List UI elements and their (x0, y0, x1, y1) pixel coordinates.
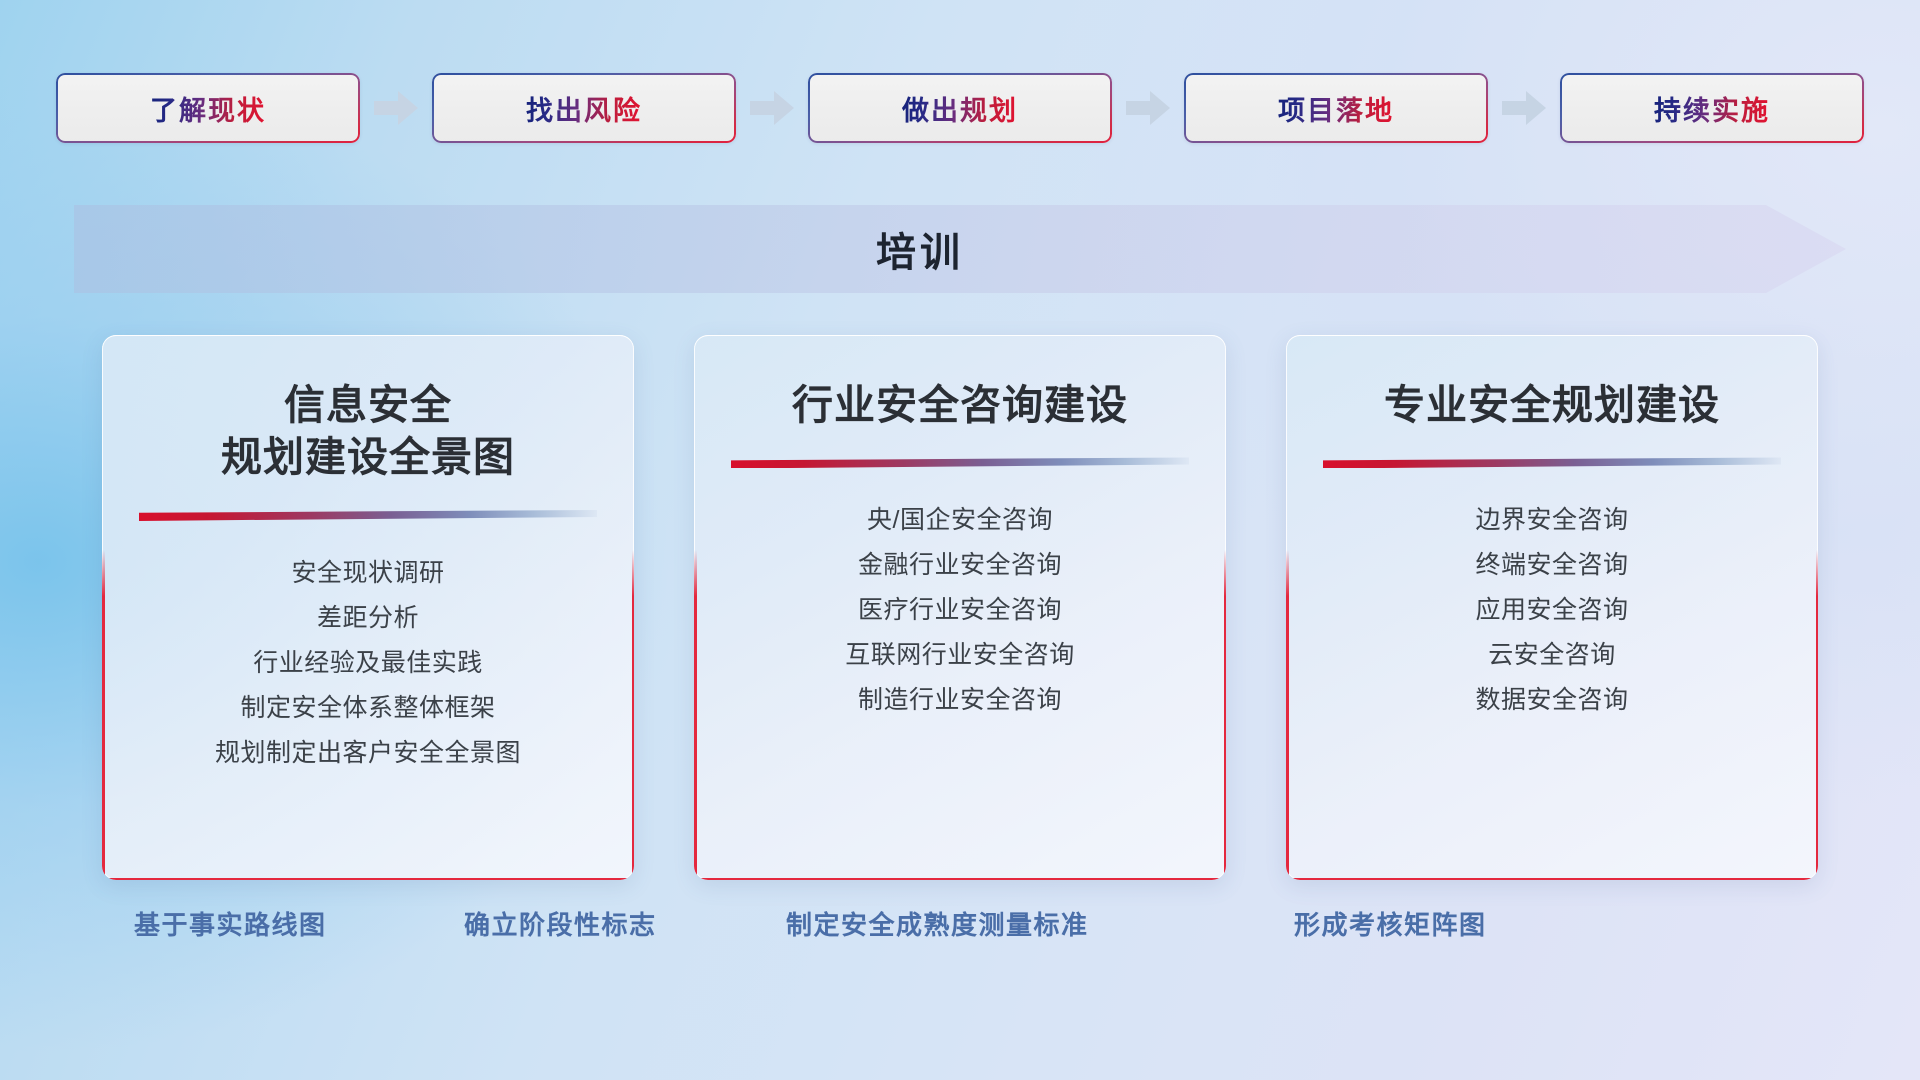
card-accent-right (1224, 550, 1227, 880)
list-item: 金融行业安全咨询 (694, 543, 1226, 588)
step-arrow-icon-2 (1112, 73, 1184, 143)
card-accent-left (1286, 550, 1289, 880)
process-step-row: 了解现状 找出风险 做出规划 项目落地 持续实施 (0, 72, 1920, 144)
list-item: 央/国企安全咨询 (694, 498, 1226, 543)
card-industry-security-consulting[interactable]: 行业安全咨询建设 央/国企安全咨询 金融行业安全咨询 医疗行业安全咨询 互联网行… (694, 335, 1226, 880)
bottom-label-roadmap: 基于事实路线图 (134, 905, 327, 942)
bottom-label-assessment-matrix: 形成考核矩阵图 (1294, 905, 1487, 942)
step-label: 做出规划 (902, 89, 1018, 128)
card-accent-bottom (102, 878, 634, 881)
card-list: 央/国企安全咨询 金融行业安全咨询 医疗行业安全咨询 互联网行业安全咨询 制造行… (694, 498, 1226, 723)
step-label: 了解现状 (150, 89, 266, 128)
step-wrap-4: 持续实施 (1560, 73, 1864, 143)
card-title: 行业安全咨询建设 (694, 379, 1226, 431)
step-box-find-risk[interactable]: 找出风险 (432, 73, 736, 143)
step-arrow-icon-1 (736, 73, 808, 143)
step-box-make-plan[interactable]: 做出规划 (808, 73, 1112, 143)
list-item: 差距分析 (102, 596, 634, 641)
step-wrap-3: 项目落地 (1184, 73, 1488, 143)
step-label: 持续实施 (1654, 89, 1770, 128)
card-divider (731, 457, 1189, 468)
list-item: 规划制定出客户安全全景图 (102, 731, 634, 776)
training-banner: 培训 (74, 205, 1846, 293)
card-list: 安全现状调研 差距分析 行业经验及最佳实践 制定安全体系整体框架 规划制定出客户… (102, 551, 634, 776)
card-accent-bottom (694, 878, 1226, 881)
step-arrow-icon-3 (1488, 73, 1560, 143)
step-box-project-landing[interactable]: 项目落地 (1184, 73, 1488, 143)
list-item: 行业经验及最佳实践 (102, 641, 634, 686)
bottom-label-maturity-standard: 制定安全成熟度测量标准 (786, 905, 1089, 942)
card-title: 信息安全 规划建设全景图 (102, 379, 634, 484)
list-item: 边界安全咨询 (1286, 498, 1818, 543)
card-accent-right (632, 550, 635, 880)
bottom-label-row: 基于事实路线图 确立阶段性标志 制定安全成熟度测量标准 形成考核矩阵图 (0, 905, 1920, 965)
step-arrow-icon-0 (360, 73, 432, 143)
step-wrap-2: 做出规划 (808, 73, 1112, 143)
step-box-understand-status[interactable]: 了解现状 (56, 73, 360, 143)
banner-title: 培训 (74, 205, 1846, 293)
list-item: 制定安全体系整体框架 (102, 686, 634, 731)
card-info-security-panorama[interactable]: 信息安全 规划建设全景图 安全现状调研 差距分析 行业经验及最佳实践 制定安全体… (102, 335, 634, 880)
card-accent-left (102, 550, 105, 880)
card-divider (1323, 457, 1781, 468)
card-list: 边界安全咨询 终端安全咨询 应用安全咨询 云安全咨询 数据安全咨询 (1286, 498, 1818, 723)
card-divider (139, 510, 597, 521)
list-item: 制造行业安全咨询 (694, 678, 1226, 723)
list-item: 互联网行业安全咨询 (694, 633, 1226, 678)
card-accent-right (1816, 550, 1819, 880)
step-wrap-1: 找出风险 (432, 73, 736, 143)
list-item: 安全现状调研 (102, 551, 634, 596)
list-item: 医疗行业安全咨询 (694, 588, 1226, 633)
card-accent-left (694, 550, 697, 880)
card-title: 专业安全规划建设 (1286, 379, 1818, 431)
step-label: 找出风险 (526, 89, 642, 128)
step-wrap-0: 了解现状 (56, 73, 360, 143)
bottom-label-milestone: 确立阶段性标志 (464, 905, 657, 942)
list-item: 终端安全咨询 (1286, 543, 1818, 588)
list-item: 数据安全咨询 (1286, 678, 1818, 723)
card-accent-bottom (1286, 878, 1818, 881)
step-box-continuous-implementation[interactable]: 持续实施 (1560, 73, 1864, 143)
card-group: 信息安全 规划建设全景图 安全现状调研 差距分析 行业经验及最佳实践 制定安全体… (0, 335, 1920, 880)
list-item: 云安全咨询 (1286, 633, 1818, 678)
step-label: 项目落地 (1278, 89, 1394, 128)
card-professional-security-planning[interactable]: 专业安全规划建设 边界安全咨询 终端安全咨询 应用安全咨询 云安全咨询 数据安全… (1286, 335, 1818, 880)
list-item: 应用安全咨询 (1286, 588, 1818, 633)
